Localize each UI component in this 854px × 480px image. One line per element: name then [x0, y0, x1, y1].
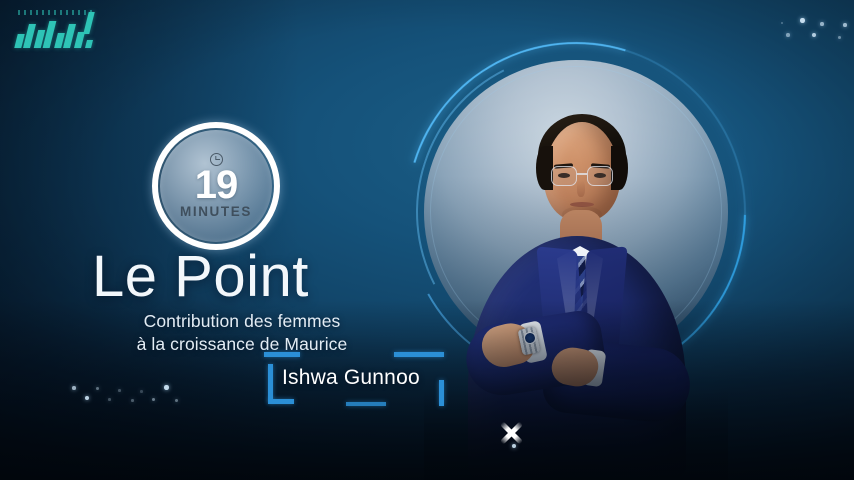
dot-top-right-1 — [820, 22, 824, 26]
broadcast-title-card: 19 MINUTES Le Point Contribution des fem… — [0, 0, 854, 480]
dot-top-right-5 — [838, 36, 841, 39]
banner-bracket-bottom-left — [268, 399, 294, 404]
mbc-logo-bar-9 — [83, 12, 94, 34]
dot-bottom-left-0 — [72, 386, 76, 390]
dot-bottom-left-6 — [108, 398, 111, 401]
dot-bottom-left-8 — [152, 398, 155, 401]
banner-bracket-top-right — [394, 352, 444, 357]
clock-icon — [210, 153, 223, 166]
dot-top-right-4 — [812, 33, 816, 37]
mbc-logo-bar-7 — [74, 32, 85, 48]
guest-name: Ishwa Gunnoo — [282, 366, 438, 390]
duration-value: 19 — [195, 167, 238, 204]
dot-top-right-6 — [781, 22, 783, 24]
dot-top-right-2 — [843, 23, 847, 27]
dot-bottom-left-4 — [164, 385, 169, 390]
dot-bottom-left-2 — [118, 389, 121, 392]
dot-top-right-0 — [800, 18, 805, 23]
mbc-logo — [16, 14, 96, 48]
dot-bottom-left-5 — [85, 396, 89, 400]
duration-badge: 19 MINUTES — [152, 122, 280, 250]
banner-bracket-left — [268, 364, 273, 402]
banner-bracket-top-left — [264, 352, 300, 357]
program-title: Le Point — [92, 248, 309, 306]
dot-bottom-left-1 — [96, 387, 99, 390]
dot-top-right-3 — [786, 33, 790, 37]
mbc-logo-bar-8 — [85, 40, 93, 48]
dot-bottom-left-9 — [175, 399, 178, 402]
duration-unit-label: MINUTES — [180, 204, 252, 219]
banner-bracket-bottom — [346, 402, 386, 406]
program-subtitle: Contribution des femmes à la croissance … — [92, 310, 392, 356]
dot-bottom-left-3 — [140, 390, 143, 393]
sparkle-star-icon — [496, 418, 526, 448]
dot-bottom-center-0 — [512, 444, 516, 448]
banner-bracket-right — [439, 380, 444, 406]
dot-bottom-left-7 — [131, 399, 134, 402]
guest-name-banner: Ishwa Gunnoo — [268, 360, 444, 404]
mbc-logo-dots — [18, 10, 96, 15]
